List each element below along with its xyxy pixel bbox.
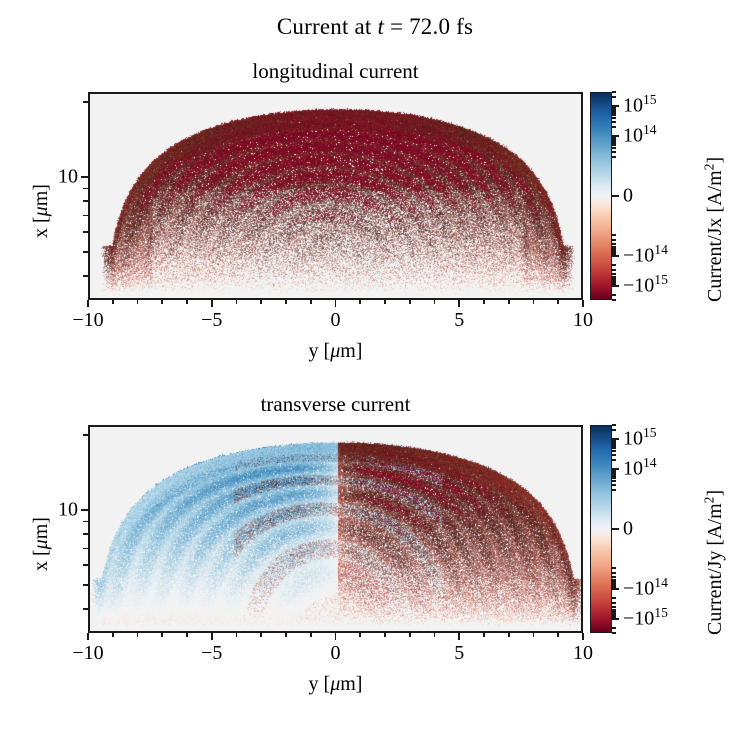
x-minor-tick bbox=[285, 300, 287, 304]
colorbar-minor-tick bbox=[612, 440, 616, 442]
colorbar-minor-tick bbox=[612, 156, 616, 158]
figure-suptitle: Current at t = 72.0 fs bbox=[0, 14, 750, 40]
colorbar-minor-tick bbox=[612, 473, 616, 475]
colorbar-minor-tick bbox=[612, 567, 616, 569]
colorbar-major-tick bbox=[612, 255, 619, 257]
colorbar-minor-tick bbox=[612, 239, 616, 241]
colorbar-minor-tick bbox=[612, 294, 616, 296]
colorbar-minor-tick bbox=[612, 471, 616, 473]
x-major-tick bbox=[458, 300, 460, 307]
y-minor-tick bbox=[83, 231, 88, 233]
colorbar-minor-tick bbox=[612, 424, 616, 426]
scatter-plot-longitudinal bbox=[90, 94, 583, 300]
colorbar-major-tick bbox=[612, 528, 619, 530]
x-minor-tick bbox=[508, 633, 510, 637]
colorbar-tick-label: −1014 bbox=[623, 577, 668, 600]
y-minor-tick bbox=[83, 521, 88, 523]
colorbar-minor-tick bbox=[612, 484, 616, 486]
y-major-tick bbox=[81, 509, 88, 511]
figure-canvas: Current at t = 72.0 fs longitudinal curr… bbox=[0, 0, 750, 750]
colorbar-minor-tick bbox=[612, 140, 616, 142]
x-minor-tick bbox=[434, 633, 436, 637]
x-minor-tick bbox=[533, 300, 535, 304]
colorbar-minor-tick bbox=[612, 91, 616, 93]
x-minor-tick bbox=[384, 633, 386, 637]
x-minor-tick bbox=[533, 633, 535, 637]
colorbar-minor-tick bbox=[612, 602, 616, 604]
x-minor-tick bbox=[508, 300, 510, 304]
colorbar-minor-tick bbox=[612, 587, 616, 589]
colorbar-tick-label: 1015 bbox=[623, 428, 657, 451]
colorbar-minor-tick bbox=[612, 126, 616, 128]
colorbar-minor-tick bbox=[612, 137, 616, 139]
colorbar-minor-tick bbox=[612, 284, 616, 286]
colorbar-axis-label: Current/Jx [A/m2] bbox=[704, 157, 727, 302]
colorbar-minor-tick bbox=[612, 299, 616, 301]
x-major-tick bbox=[582, 300, 584, 307]
panel-transverse: transverse current bbox=[88, 425, 583, 633]
colorbar-minor-tick bbox=[612, 144, 616, 146]
colorbar-tick-label: −1014 bbox=[623, 244, 668, 267]
x-minor-tick bbox=[161, 633, 163, 637]
colorbar-transverse[interactable] bbox=[590, 425, 612, 633]
y-axis-label: x [μm] bbox=[30, 184, 53, 238]
colorbar-minor-tick bbox=[612, 234, 616, 236]
panel-title-longitudinal: longitudinal current bbox=[88, 59, 583, 84]
colorbar-minor-tick bbox=[612, 114, 616, 116]
x-tick-label: 10 bbox=[573, 309, 593, 332]
colorbar-tick-label: 0 bbox=[623, 185, 633, 208]
suptitle-equation: = 72.0 fs bbox=[384, 14, 473, 39]
x-major-tick bbox=[211, 300, 213, 307]
x-minor-tick bbox=[409, 633, 411, 637]
x-minor-tick bbox=[557, 633, 559, 637]
y-minor-tick bbox=[83, 188, 88, 190]
x-axis-label: y [μm] bbox=[88, 340, 583, 363]
colorbar-major-tick bbox=[612, 285, 619, 287]
x-tick-label: 0 bbox=[331, 309, 341, 332]
x-tick-label: −5 bbox=[201, 642, 222, 665]
x-minor-tick bbox=[112, 633, 114, 637]
x-minor-tick bbox=[161, 300, 163, 304]
x-tick-label: −10 bbox=[72, 309, 103, 332]
colorbar-minor-tick bbox=[612, 477, 616, 479]
colorbar-minor-tick bbox=[612, 121, 616, 123]
colorbar-minor-tick bbox=[612, 480, 616, 482]
y-minor-tick bbox=[83, 564, 88, 566]
x-minor-tick bbox=[384, 300, 386, 304]
x-minor-tick bbox=[310, 300, 312, 304]
y-minor-tick bbox=[83, 608, 88, 610]
x-minor-tick bbox=[557, 300, 559, 304]
y-minor-tick bbox=[83, 548, 88, 550]
x-major-tick bbox=[87, 633, 89, 640]
axes-longitudinal[interactable] bbox=[88, 92, 583, 300]
x-minor-tick bbox=[409, 300, 411, 304]
x-minor-tick bbox=[112, 300, 114, 304]
x-minor-tick bbox=[236, 633, 238, 637]
x-minor-tick bbox=[285, 633, 287, 637]
x-major-tick bbox=[335, 633, 337, 640]
colorbar-minor-tick bbox=[612, 454, 616, 456]
suptitle-prefix: Current at bbox=[277, 14, 378, 39]
colorbar-tick-label: 1014 bbox=[623, 125, 657, 148]
y-minor-tick bbox=[83, 434, 88, 436]
colorbar-minor-tick bbox=[612, 579, 616, 581]
colorbar-minor-tick bbox=[612, 445, 616, 447]
colorbar-minor-tick bbox=[612, 243, 616, 245]
colorbar-minor-tick bbox=[612, 609, 616, 611]
colorbar-minor-tick bbox=[612, 443, 616, 445]
colorbar-minor-tick bbox=[612, 151, 616, 153]
colorbar-minor-tick bbox=[612, 441, 616, 443]
x-minor-tick bbox=[434, 300, 436, 304]
colorbar-minor-tick bbox=[612, 606, 616, 608]
panel-title-transverse: transverse current bbox=[88, 392, 583, 417]
x-minor-tick bbox=[186, 633, 188, 637]
colorbar-minor-tick bbox=[612, 273, 616, 275]
colorbar-tick-label: −1015 bbox=[623, 274, 668, 297]
colorbar-minor-tick bbox=[612, 108, 616, 110]
axes-transverse[interactable] bbox=[88, 425, 583, 633]
colorbar-major-tick bbox=[612, 195, 619, 197]
y-axis-label: x [μm] bbox=[30, 517, 53, 571]
colorbar-minor-tick bbox=[612, 138, 616, 140]
x-minor-tick bbox=[359, 300, 361, 304]
colorbar-major-tick bbox=[612, 618, 619, 620]
colorbar-minor-tick bbox=[612, 276, 616, 278]
colorbar-minor-tick bbox=[612, 429, 616, 431]
colorbar-minor-tick bbox=[612, 627, 616, 629]
colorbar-tick-label: −1015 bbox=[623, 607, 668, 630]
colorbar-minor-tick bbox=[612, 264, 616, 266]
colorbar-minor-tick bbox=[612, 475, 616, 477]
colorbar-minor-tick bbox=[612, 450, 616, 452]
x-minor-tick bbox=[310, 633, 312, 637]
colorbar-major-tick bbox=[612, 588, 619, 590]
colorbar-minor-tick bbox=[612, 617, 616, 619]
colorbar-minor-tick bbox=[612, 597, 616, 599]
x-minor-tick bbox=[137, 300, 139, 304]
colorbar-minor-tick bbox=[612, 110, 616, 112]
x-minor-tick bbox=[260, 300, 262, 304]
x-minor-tick bbox=[483, 633, 485, 637]
x-axis-label: y [μm] bbox=[88, 673, 583, 696]
scatter-plot-transverse bbox=[90, 427, 583, 633]
colorbar-minor-tick bbox=[612, 142, 616, 144]
x-minor-tick bbox=[260, 633, 262, 637]
colorbar-minor-tick bbox=[612, 576, 616, 578]
colorbar-minor-tick bbox=[612, 96, 616, 98]
colorbar-tick-label: 1014 bbox=[623, 458, 657, 481]
colorbar-minor-tick bbox=[612, 447, 616, 449]
y-minor-tick bbox=[83, 101, 88, 103]
colorbar-minor-tick bbox=[612, 147, 616, 149]
colorbar-gradient bbox=[590, 425, 612, 633]
y-minor-tick bbox=[83, 200, 88, 202]
colorbar-minor-tick bbox=[612, 572, 616, 574]
colorbar-minor-tick bbox=[612, 117, 616, 119]
colorbar-minor-tick bbox=[612, 246, 616, 248]
x-major-tick bbox=[582, 633, 584, 640]
y-minor-tick bbox=[83, 275, 88, 277]
colorbar-minor-tick bbox=[612, 632, 616, 634]
x-tick-label: 0 bbox=[331, 642, 341, 665]
x-tick-label: 5 bbox=[454, 309, 464, 332]
panel-longitudinal: longitudinal current bbox=[88, 92, 583, 300]
colorbar-minor-tick bbox=[612, 112, 616, 114]
y-minor-tick bbox=[83, 584, 88, 586]
x-major-tick bbox=[335, 300, 337, 307]
colorbar-gradient bbox=[590, 92, 612, 300]
x-minor-tick bbox=[137, 633, 139, 637]
colorbar-longitudinal[interactable] bbox=[590, 92, 612, 300]
x-major-tick bbox=[87, 300, 89, 307]
x-minor-tick bbox=[359, 633, 361, 637]
y-minor-tick bbox=[83, 251, 88, 253]
colorbar-minor-tick bbox=[612, 269, 616, 271]
colorbar-axis-label: Current/Jy [A/m2] bbox=[704, 490, 727, 635]
x-major-tick bbox=[458, 633, 460, 640]
x-tick-label: 5 bbox=[454, 642, 464, 665]
x-major-tick bbox=[211, 633, 213, 640]
colorbar-tick-label: 0 bbox=[623, 518, 633, 541]
colorbar-minor-tick bbox=[612, 254, 616, 256]
colorbar-minor-tick bbox=[612, 489, 616, 491]
y-minor-tick bbox=[83, 533, 88, 535]
colorbar-minor-tick bbox=[612, 107, 616, 109]
x-tick-label: −5 bbox=[201, 309, 222, 332]
colorbar-tick-label: 1015 bbox=[623, 95, 657, 118]
x-tick-label: −10 bbox=[72, 642, 103, 665]
colorbar-minor-tick bbox=[612, 459, 616, 461]
x-minor-tick bbox=[483, 300, 485, 304]
y-minor-tick bbox=[83, 215, 88, 217]
x-tick-label: 10 bbox=[573, 642, 593, 665]
y-major-tick bbox=[81, 176, 88, 178]
x-minor-tick bbox=[186, 300, 188, 304]
x-minor-tick bbox=[236, 300, 238, 304]
colorbar-minor-tick bbox=[612, 470, 616, 472]
